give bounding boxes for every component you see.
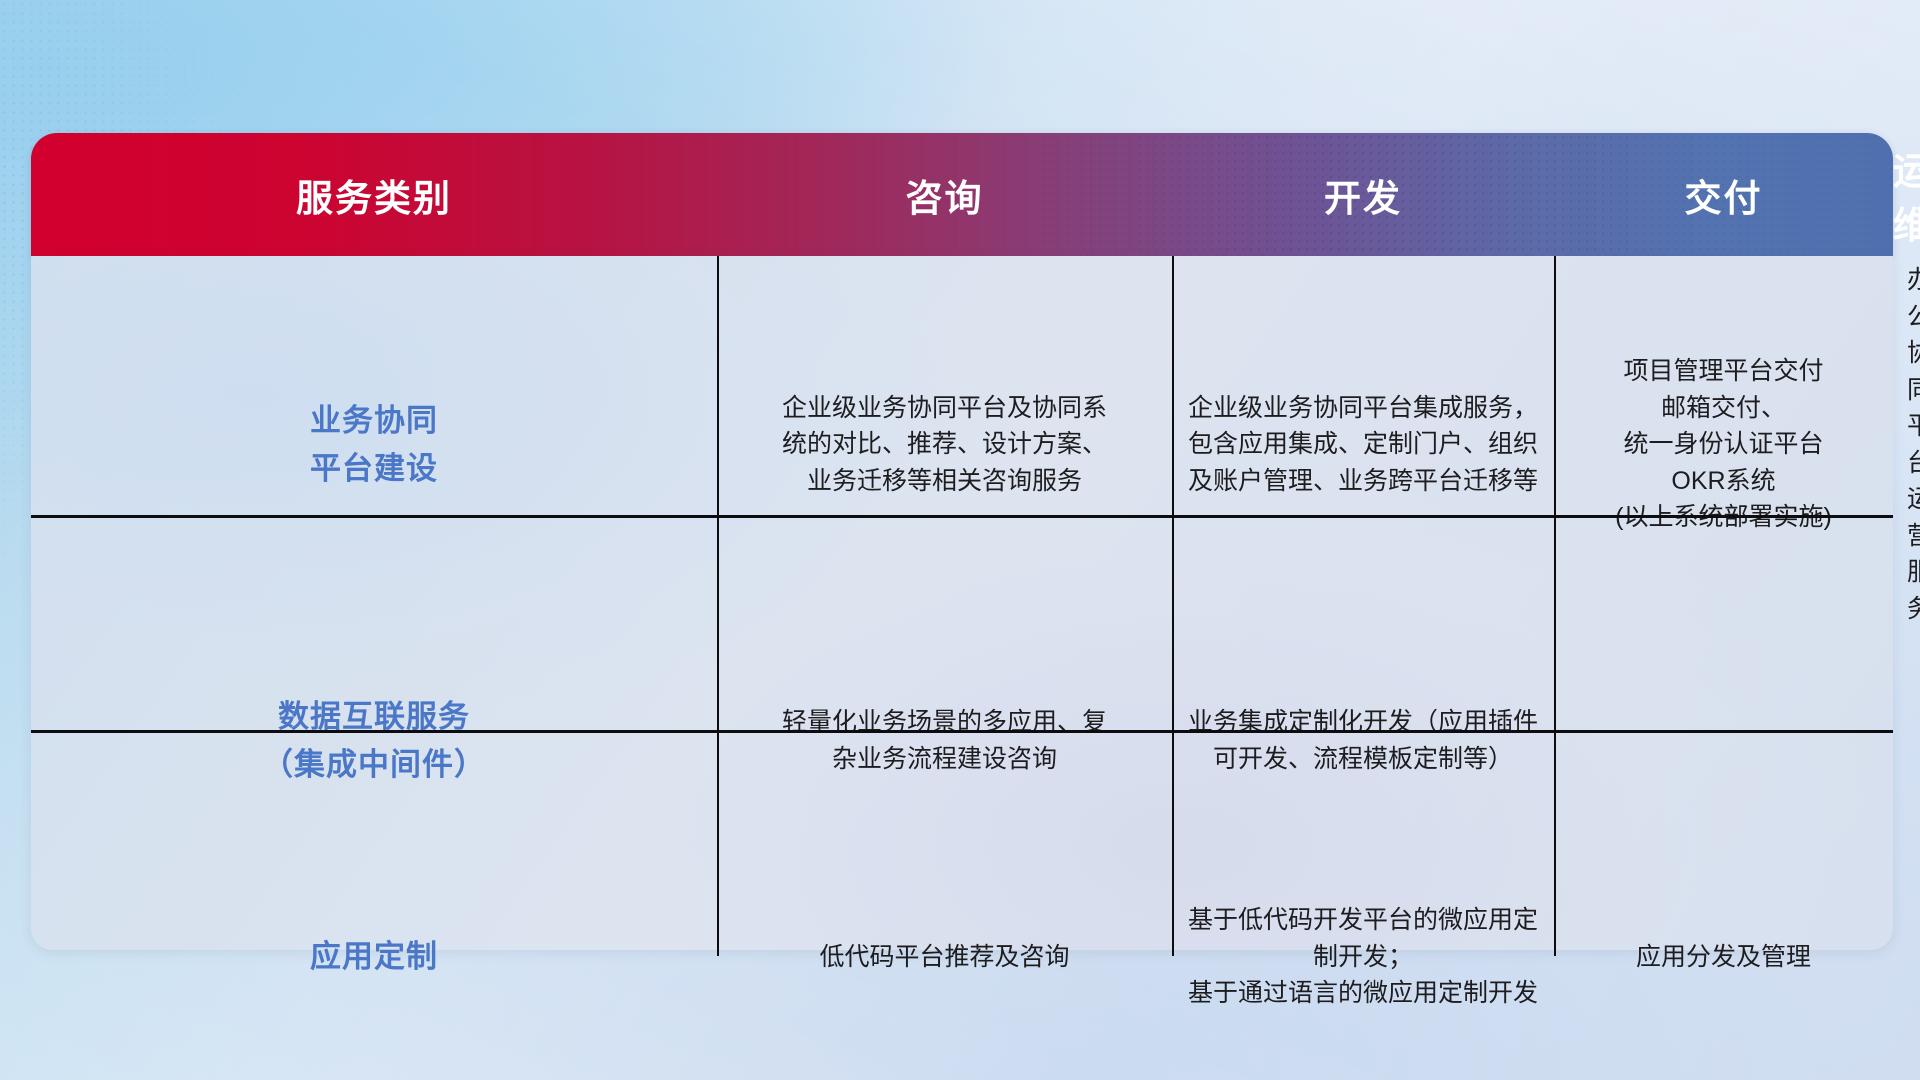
delivery-text-row2 [1554,735,1893,747]
service-matrix: 服务类别 咨询 开发 交付 运维 业务协同 平台建设 企业级业务协同平台及协同系… [31,133,1893,1066]
cell-delivery-row2 [1554,633,1893,848]
cell-development-row2: 业务集成定制化开发（应用插件 可开发、流程模板定制等） [1172,633,1554,848]
table-header: 服务类别 咨询 开发 交付 运维 [31,133,1893,256]
category-label-row3: 应用定制 [31,927,717,986]
cell-delivery-row1: 项目管理平台交付 邮箱交付、 统一身份认证平台 OKR系统 (以上系统部署实施) [1554,256,1893,633]
development-text-row2: 业务集成定制化开发（应用插件 可开发、流程模板定制等） [1172,698,1554,783]
cell-category-row1: 业务协同 平台建设 [31,256,717,633]
category-label-row2: 数据互联服务 （集成中间件） [31,687,717,793]
cell-consulting-row1: 企业级业务协同平台及协同系 统的对比、推荐、设计方案、 业务迁移等相关咨询服务 [717,256,1172,633]
cell-consulting-row3: 低代码平台推荐及咨询 [717,848,1172,1066]
table-header-row: 服务类别 咨询 开发 交付 运维 [31,133,1893,256]
consulting-text-row2: 轻量化业务场景的多应用、复 杂业务流程建设咨询 [717,698,1172,783]
cell-development-row1: 企业级业务协同平台集成服务， 包含应用集成、定制门户、组织 及账户管理、业务跨平… [1172,256,1554,633]
category-label-row1: 业务协同 平台建设 [31,391,717,497]
consulting-text-row1: 企业级业务协同平台及协同系 统的对比、推荐、设计方案、 业务迁移等相关咨询服务 [717,384,1172,506]
development-text-row1: 企业级业务协同平台集成服务， 包含应用集成、定制门户、组织 及账户管理、业务跨平… [1172,384,1554,506]
cell-development-row3: 基于低代码开发平台的微应用定 制开发； 基于通过语言的微应用定制开发 [1172,848,1554,1066]
table-row: 应用定制 低代码平台推荐及咨询 基于低代码开发平台的微应用定 制开发； 基于通过… [31,848,1893,1066]
table-row: 数据互联服务 （集成中间件） 轻量化业务场景的多应用、复 杂业务流程建设咨询 业… [31,633,1893,848]
consulting-text-row3: 低代码平台推荐及咨询 [717,933,1172,982]
column-header-delivery[interactable]: 交付 [1554,133,1893,256]
development-text-row3: 基于低代码开发平台的微应用定 制开发； 基于通过语言的微应用定制开发 [1172,896,1554,1018]
cell-category-row3: 应用定制 [31,848,717,1066]
column-header-consulting[interactable]: 咨询 [717,133,1172,256]
cell-delivery-row3: 应用分发及管理 [1554,848,1893,1066]
operations-text-row3 [1893,951,1920,963]
service-matrix-table: 服务类别 咨询 开发 交付 运维 业务协同 平台建设 企业级业务协同平台及协同系… [31,133,1893,1066]
operations-text-row1: 办公协同平台运营服务 [1893,256,1920,633]
column-header-development[interactable]: 开发 [1172,133,1554,256]
cell-consulting-row2: 轻量化业务场景的多应用、复 杂业务流程建设咨询 [717,633,1172,848]
delivery-text-row1: 项目管理平台交付 邮箱交付、 统一身份认证平台 OKR系统 (以上系统部署实施) [1554,347,1893,542]
cell-category-row2: 数据互联服务 （集成中间件） [31,633,717,848]
column-header-category[interactable]: 服务类别 [31,133,717,256]
table-row: 业务协同 平台建设 企业级业务协同平台及协同系 统的对比、推荐、设计方案、 业务… [31,256,1893,633]
operations-text-row2 [1893,735,1920,747]
table-body: 业务协同 平台建设 企业级业务协同平台及协同系 统的对比、推荐、设计方案、 业务… [31,256,1893,1066]
delivery-text-row3: 应用分发及管理 [1554,933,1893,982]
